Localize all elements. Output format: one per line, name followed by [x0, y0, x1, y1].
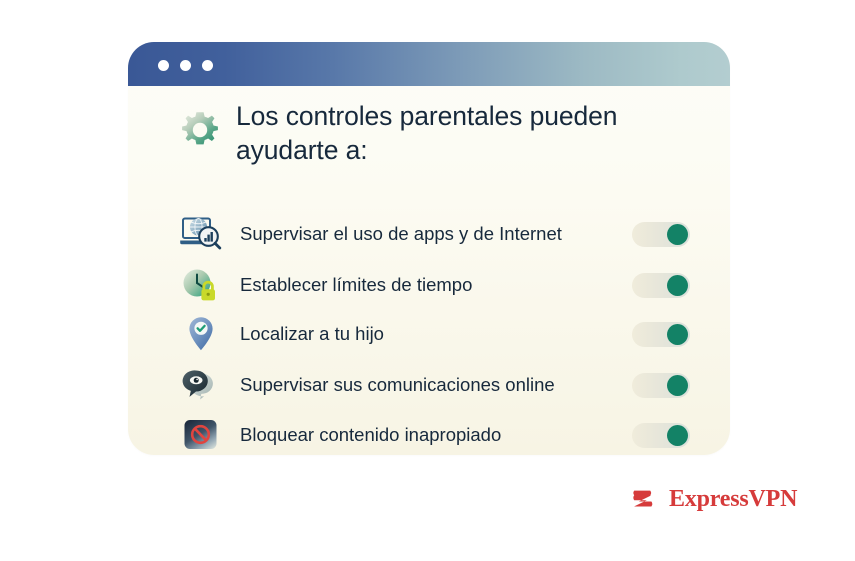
chat-bubble-eye-icon	[178, 364, 224, 406]
feature-label: Localizar a tu hijo	[224, 322, 624, 347]
laptop-globe-magnifier-icon	[178, 213, 224, 255]
feature-toggle-monitor-apps[interactable]	[632, 222, 690, 247]
gear-icon	[178, 108, 222, 152]
feature-label: Bloquear contenido inapropiado	[224, 423, 624, 448]
window-controls	[158, 60, 213, 71]
toggle-knob	[667, 275, 688, 296]
expressvpn-logo: ExpressVPN	[630, 484, 797, 514]
feature-label: Supervisar sus comunicaciones online	[224, 373, 624, 398]
expressvpn-logo-text: ExpressVPN	[669, 486, 797, 513]
feature-row-monitor-communications[interactable]: Supervisar sus comunicaciones online	[178, 358, 690, 412]
location-pin-check-icon	[178, 313, 224, 355]
toggle-knob	[667, 425, 688, 446]
feature-label: Supervisar el uso de apps y de Internet	[224, 222, 624, 247]
browser-window-card: Los controles parentales pueden ayudarte…	[128, 42, 730, 455]
window-dot-minimize[interactable]	[180, 60, 191, 71]
feature-row-monitor-apps[interactable]: Supervisar el uso de apps y de Internet	[178, 208, 690, 260]
window-title-bar	[128, 42, 730, 86]
feature-toggle-time-limits[interactable]	[632, 273, 690, 298]
expressvpn-logo-mark	[630, 484, 660, 514]
toggle-knob	[667, 375, 688, 396]
feature-label: Establecer límites de tiempo	[224, 273, 624, 298]
feature-toggle-monitor-communications[interactable]	[632, 373, 690, 398]
feature-row-block-content[interactable]: Bloquear contenido inapropiado	[178, 412, 690, 455]
window-dot-close[interactable]	[158, 60, 169, 71]
feature-row-locate-child[interactable]: Localizar a tu hijo	[178, 310, 690, 358]
toggle-knob	[667, 324, 688, 345]
feature-toggle-block-content[interactable]	[632, 423, 690, 448]
heading-row: Los controles parentales pueden ayudarte…	[178, 100, 698, 168]
page-title: Los controles parentales pueden ayudarte…	[236, 100, 676, 168]
clock-lock-icon	[178, 264, 224, 306]
feature-toggle-locate-child[interactable]	[632, 322, 690, 347]
card-body: Los controles parentales pueden ayudarte…	[128, 86, 730, 455]
feature-row-time-limits[interactable]: Establecer límites de tiempo	[178, 260, 690, 310]
toggle-knob	[667, 224, 688, 245]
window-dot-maximize[interactable]	[202, 60, 213, 71]
feature-list: Supervisar el uso de apps y de Internet	[178, 208, 690, 455]
blocked-content-icon	[178, 414, 224, 455]
